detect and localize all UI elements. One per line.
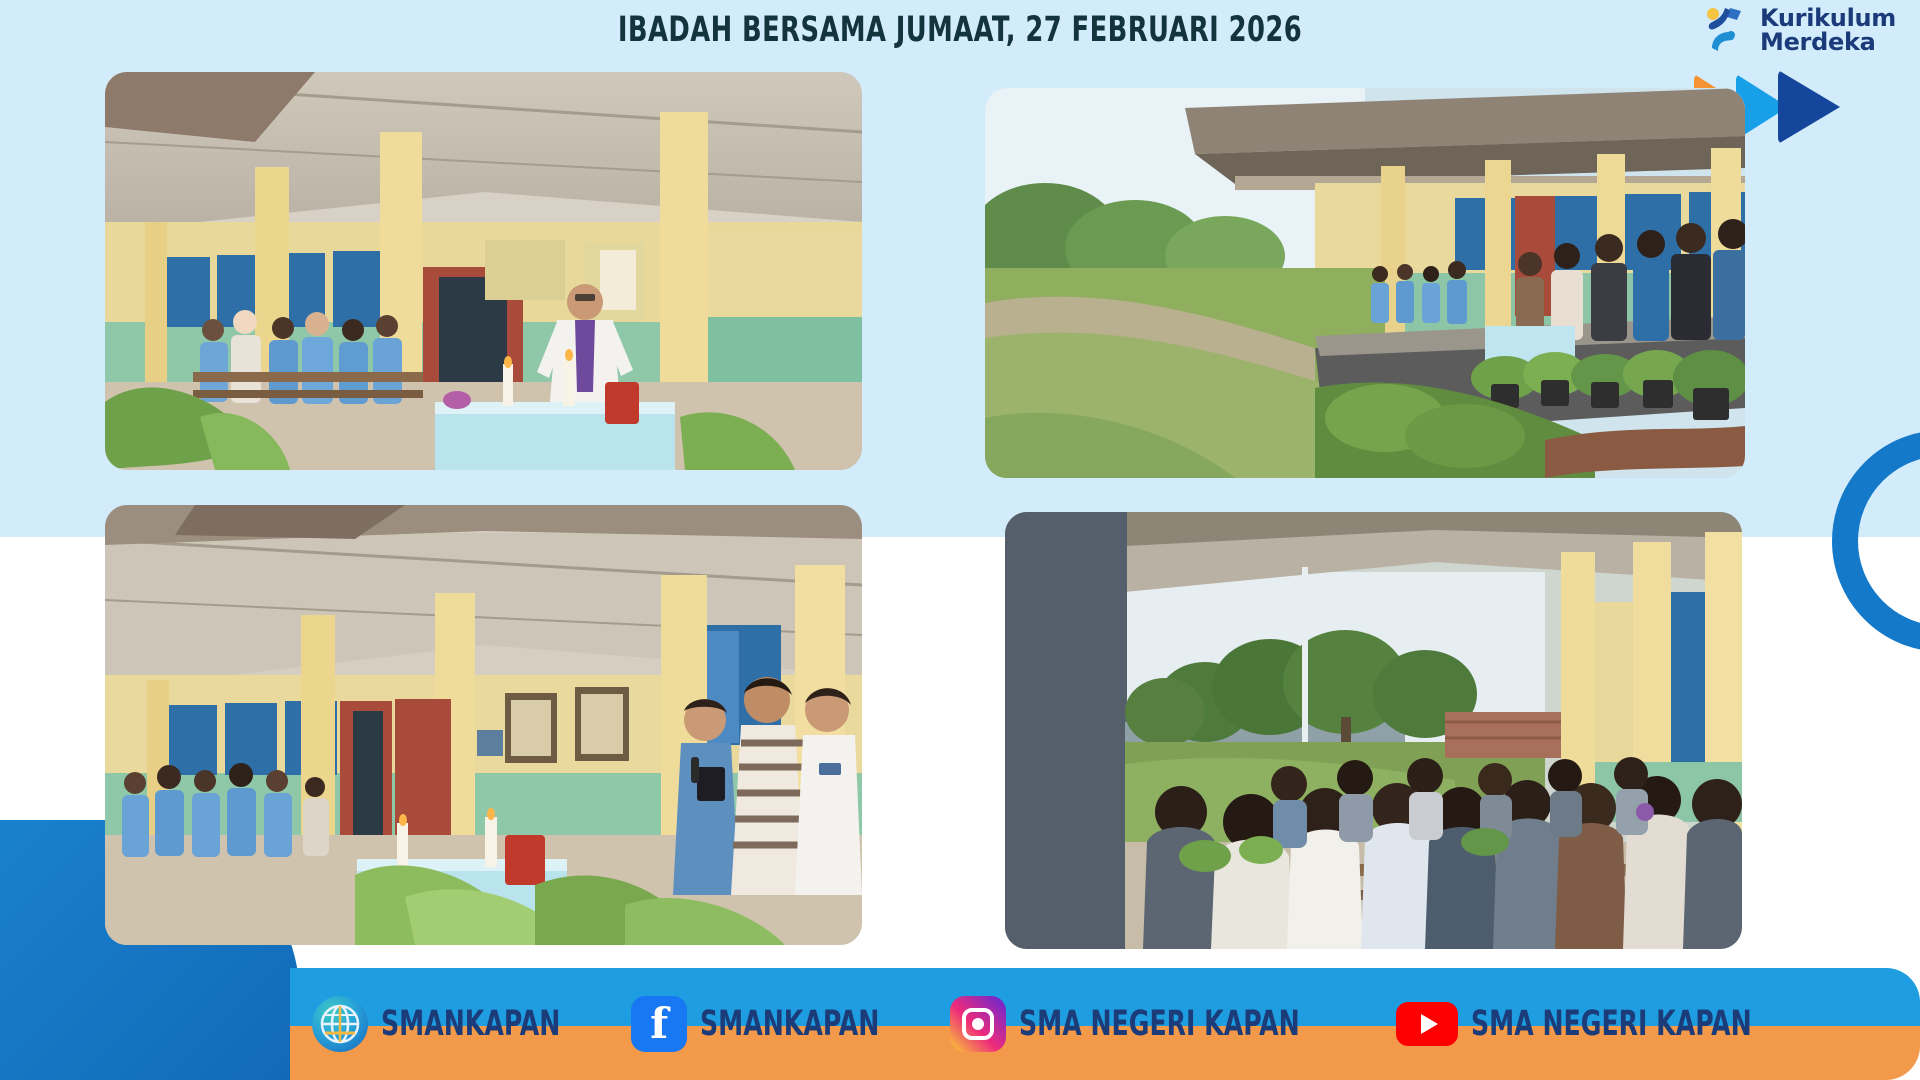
social-links-list: SMANKAPAN f SMANKAPAN SMA NEGERI KAPAN S… — [290, 968, 1920, 1080]
brand-logo: Kurikulum Merdeka — [1700, 4, 1896, 56]
globe-icon — [312, 996, 368, 1052]
instagram-icon — [950, 996, 1006, 1052]
page-title: IBADAH BERSAMA JUMAAT, 27 FEBRUARI 2026 — [173, 10, 1747, 50]
photo-students-standing-veranda — [985, 88, 1745, 478]
brand-line-2: Merdeka — [1760, 30, 1896, 54]
photo-pastor-leading-worship — [105, 72, 862, 470]
social-label-website: SMANKAPAN — [381, 1004, 560, 1044]
social-link-instagram[interactable]: SMA NEGERI KAPAN — [950, 996, 1370, 1052]
kurikulum-merdeka-swoosh-icon — [1700, 4, 1752, 56]
social-link-facebook[interactable]: f SMANKAPAN — [631, 996, 924, 1052]
facebook-icon: f — [631, 996, 687, 1052]
social-label-facebook: SMANKAPAN — [700, 1004, 879, 1044]
brand-name: Kurikulum Merdeka — [1760, 6, 1896, 55]
brand-line-1: Kurikulum — [1760, 6, 1896, 30]
instagram-icon-lens — [962, 1008, 994, 1040]
social-footer-bar: SMANKAPAN f SMANKAPAN SMA NEGERI KAPAN S… — [290, 968, 1920, 1080]
social-link-website[interactable]: SMANKAPAN — [312, 996, 605, 1052]
social-link-youtube[interactable]: SMA NEGERI KAPAN — [1396, 1002, 1822, 1046]
social-label-youtube: SMA NEGERI KAPAN — [1471, 1004, 1752, 1044]
social-label-instagram: SMA NEGERI KAPAN — [1019, 1004, 1300, 1044]
play-arrow-dark-blue-icon — [1778, 70, 1840, 144]
photo-teachers-reading-scripture — [105, 505, 862, 945]
youtube-icon-play-triangle — [1421, 1014, 1438, 1034]
youtube-icon — [1396, 1002, 1458, 1046]
instagram-icon-dot — [972, 1018, 984, 1030]
photo-congregation-seated-outdoors — [1005, 512, 1742, 949]
